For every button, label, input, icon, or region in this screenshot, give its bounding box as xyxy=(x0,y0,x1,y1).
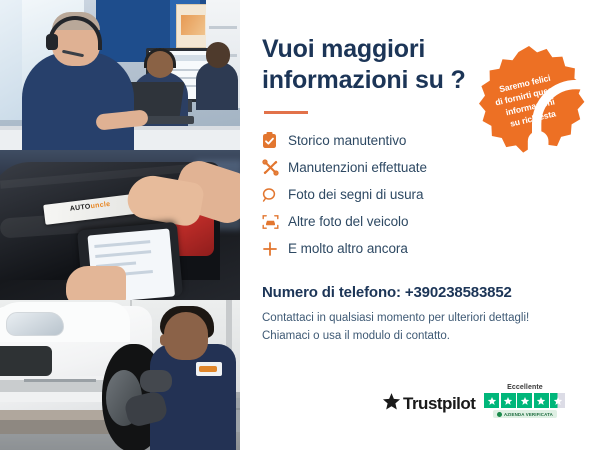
trustpilot-rating-block: Eccellente AZIENDA VERIFICATA xyxy=(484,384,565,418)
call-center-photo xyxy=(0,0,240,150)
star-icon xyxy=(534,393,549,408)
feature-label: Storico manutentivo xyxy=(288,133,406,148)
star-icon xyxy=(501,393,516,408)
trustpilot-brand: Trustpilot xyxy=(382,392,475,418)
trustpilot-widget[interactable]: Trustpilot Eccellente AZIENDA VERIFICATA xyxy=(382,384,565,418)
feature-label: Manutenzioni effettuate xyxy=(288,160,427,175)
star-icon xyxy=(484,393,499,408)
trustpilot-rating-label: Eccellente xyxy=(507,384,543,391)
vehicle-inspection-photo: AUTOuncle xyxy=(0,150,240,300)
garage-wheel-photo xyxy=(0,300,240,450)
headline-line-2: informazioni su ? xyxy=(262,66,466,94)
check-dot-icon xyxy=(497,412,502,417)
callout-badge: Saremo felici di fornirti queste informa… xyxy=(470,44,588,162)
star-half-icon xyxy=(550,393,565,408)
list-item: E molto altro ancora xyxy=(262,235,576,262)
car-scan-icon xyxy=(262,214,288,230)
star-icon xyxy=(517,393,532,408)
trustpilot-name: Trustpilot xyxy=(403,394,475,414)
feature-label: E molto altro ancora xyxy=(288,241,408,256)
photo-column: AUTOuncle xyxy=(0,0,240,450)
contact-subtext: Contattaci in qualsiasi momento per ulte… xyxy=(262,310,576,346)
magnifier-icon xyxy=(262,187,288,203)
feature-label: Altre foto del veicolo xyxy=(288,214,408,229)
contact-subtext-line-1: Contattaci in qualsiasi momento per ulte… xyxy=(262,312,529,324)
trustpilot-star-icon xyxy=(382,392,401,416)
verified-label: AZIENDA VERIFICATA xyxy=(504,412,553,417)
feature-label: Foto dei segni di usura xyxy=(288,187,423,202)
trustpilot-stars xyxy=(484,393,565,408)
plus-icon xyxy=(262,241,288,257)
verified-company-badge: AZIENDA VERIFICATA xyxy=(493,410,557,418)
list-item: Altre foto del veicolo xyxy=(262,208,576,235)
list-item: Foto dei segni di usura xyxy=(262,181,576,208)
clipboard-check-icon xyxy=(262,132,288,149)
phone-number[interactable]: Numero di telefono: +390238583852 xyxy=(262,284,576,301)
headline-line-1: Vuoi maggiori xyxy=(262,35,425,63)
contact-subtext-line-2: Chiamaci o usa il modulo di contatto. xyxy=(262,330,450,342)
title-divider xyxy=(264,111,308,114)
page-title: Vuoi maggiori informazioni su ? xyxy=(262,34,472,95)
tools-cross-icon xyxy=(262,159,288,176)
promo-banner: AUTOuncle Vuoi maggiori informazioni xyxy=(0,0,600,450)
